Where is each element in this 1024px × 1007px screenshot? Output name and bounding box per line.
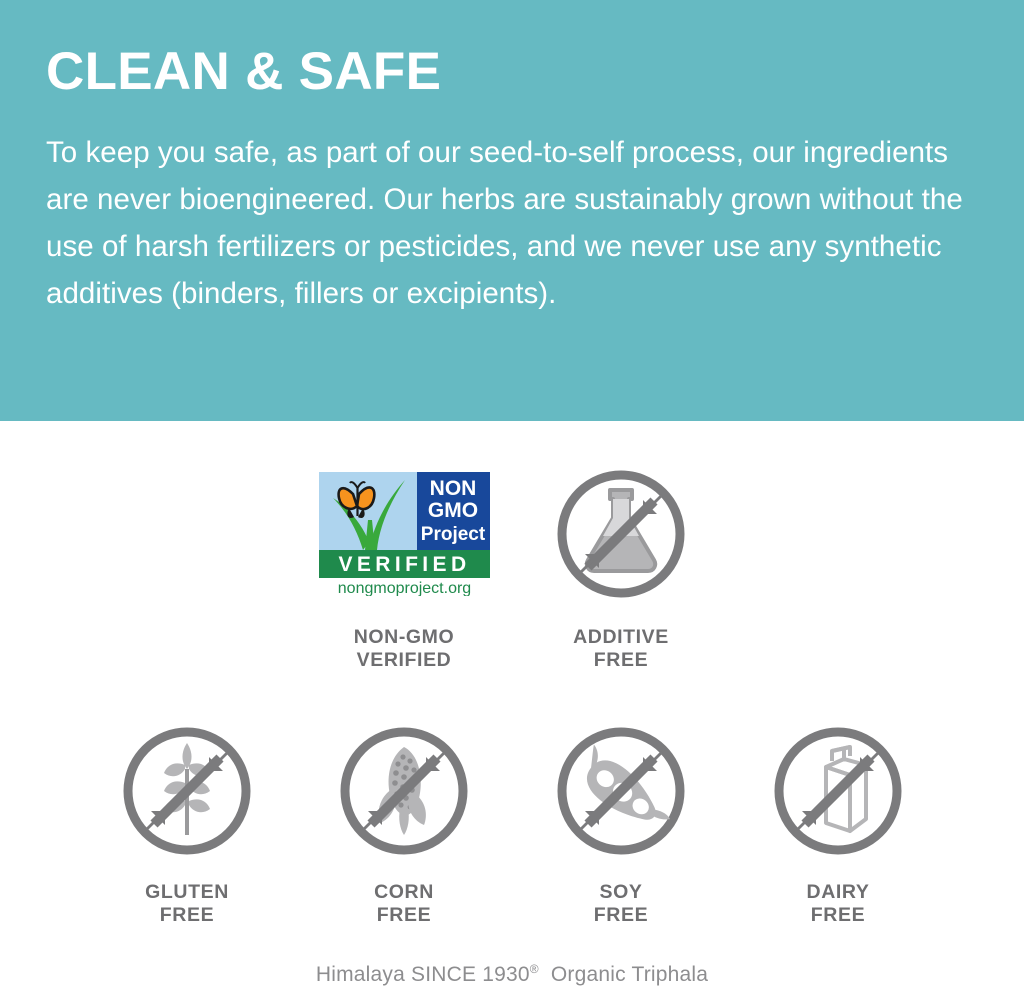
badge-non-gmo-verified[interactable]: NON GMO Project VERIFIED nongmoproject.o…: [294, 451, 514, 672]
badge-soy-free[interactable]: SOY FREE: [511, 711, 731, 927]
footer-caption: Himalaya SINCE 1930® Organic Triphala: [0, 962, 1024, 987]
badge-label-additive-free: ADDITIVE FREE: [511, 626, 731, 672]
certification-badges: NON GMO Project VERIFIED nongmoproject.o…: [0, 421, 1024, 961]
badge-label-soy-free: SOY FREE: [511, 881, 731, 927]
non-gmo-project-verified-seal-icon: NON GMO Project VERIFIED nongmoproject.o…: [294, 451, 514, 616]
badge-corn-free[interactable]: CORN FREE: [294, 711, 514, 927]
badge-gluten-free[interactable]: GLUTEN FREE: [77, 711, 297, 927]
no-soy-icon: [511, 711, 731, 871]
page-title: CLEAN & SAFE: [46, 44, 978, 100]
no-dairy-icon: [728, 711, 948, 871]
no-corn-icon: [294, 711, 514, 871]
svg-text:Project: Project: [420, 524, 485, 545]
badge-label-dairy-free: DAIRY FREE: [728, 881, 948, 927]
footer-product: Organic Triphala: [551, 963, 708, 986]
badge-dairy-free[interactable]: DAIRY FREE: [728, 711, 948, 927]
svg-text:VERIFIED: VERIFIED: [338, 553, 470, 576]
badge-label-corn-free: CORN FREE: [294, 881, 514, 927]
footer-brand: Himalaya SINCE 1930: [316, 963, 530, 986]
svg-text:GMO: GMO: [427, 499, 477, 522]
clean-and-safe-panel: CLEAN & SAFE To keep you safe, as part o…: [0, 0, 1024, 1007]
no-wheat-icon: [77, 711, 297, 871]
hero-section: CLEAN & SAFE To keep you safe, as part o…: [0, 0, 1024, 421]
hero-description: To keep you safe, as part of our seed-to…: [46, 129, 976, 317]
no-flask-icon: [511, 451, 731, 616]
badge-label-gluten-free: GLUTEN FREE: [77, 881, 297, 927]
badge-label-non-gmo-verified: NON-GMO VERIFIED: [294, 626, 514, 672]
svg-text:NON: NON: [429, 477, 476, 500]
registered-trademark-icon: ®: [530, 962, 539, 976]
badge-additive-free[interactable]: ADDITIVE FREE: [511, 451, 731, 672]
svg-text:nongmoproject.org: nongmoproject.org: [337, 580, 470, 596]
